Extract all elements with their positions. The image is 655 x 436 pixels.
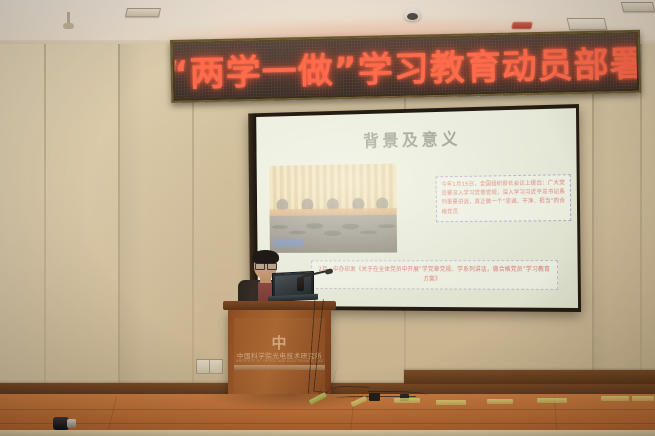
slide-text-box-1: 今年1月15日，全国组织部长会议上提出：广大党员要深入学习党章党规，深入学习习近… — [436, 174, 572, 222]
cable-tape — [394, 398, 420, 403]
stage-front-edge — [0, 430, 655, 436]
wall-outlet[interactable] — [209, 359, 223, 374]
cable-tape — [436, 400, 466, 405]
spotlight-lens — [67, 419, 76, 428]
cable-tape — [487, 399, 513, 404]
ceiling-light-fixture — [567, 18, 608, 30]
microphone-base — [297, 277, 304, 291]
slide-title: 背景及意义 — [256, 122, 576, 154]
cable-tape — [601, 396, 629, 401]
slide-photo-audience — [270, 215, 398, 253]
cable-tape — [537, 398, 567, 403]
cable-connector — [369, 393, 380, 401]
ceiling-light-fixture — [621, 2, 655, 12]
floor-seam — [0, 409, 655, 410]
slide-photo — [269, 163, 397, 252]
led-banner: “两学一做”学习教育动员部署 — [170, 30, 641, 103]
wall-panel-shading — [592, 44, 640, 394]
dome-security-camera-icon — [404, 8, 421, 21]
speaker-hair — [252, 250, 279, 264]
wall-outlet[interactable] — [196, 359, 210, 374]
lecture-hall-photo: “两学一做”学习教育动员部署 背景及意义 今年1月15日，全国组织部长会议上提出… — [0, 0, 655, 436]
ceiling-mount-rod — [67, 12, 70, 24]
glasses-icon — [254, 263, 277, 268]
led-banner-screen: “两学一做”学习教育动员部署 — [174, 34, 637, 99]
slide-photo-banner — [273, 239, 303, 248]
wall-panel-seam — [44, 44, 46, 394]
slide-text-box-2: 2月，中办印发《关于在全体党员中开展“学党章党规、学系列讲话，做合格党员”学习教… — [311, 260, 558, 290]
wall-baseboard — [404, 370, 655, 384]
led-banner-text: “两学一做”学习教育动员部署 — [174, 36, 637, 97]
cable-tape — [632, 396, 654, 401]
wall-panel-seam — [640, 44, 642, 394]
ceiling-red-reflection — [511, 22, 532, 29]
ceiling-light-fixture — [125, 8, 161, 17]
